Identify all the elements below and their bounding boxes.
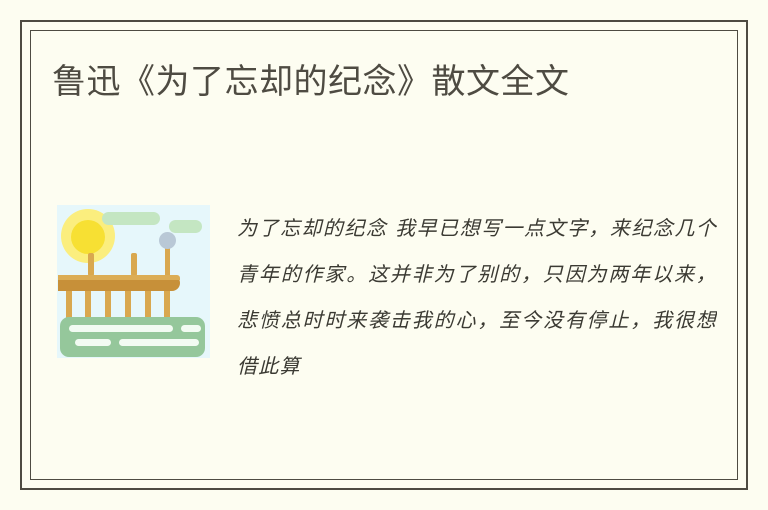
wave-line	[119, 339, 199, 346]
page-title: 鲁迅《为了忘却的纪念》散文全文	[52, 52, 652, 107]
sun-icon	[71, 220, 105, 254]
water-surface	[60, 317, 205, 357]
lamp-head-icon	[159, 232, 176, 249]
article-body: 为了忘却的纪念 我早已想写一点文字，来纪念几个青年的作家。这并非为了别的，只因为…	[57, 205, 717, 389]
cloud-icon	[102, 212, 160, 225]
pier-post	[88, 253, 94, 276]
wave-line	[69, 325, 173, 332]
pier-deck-highlight	[58, 275, 180, 280]
article-excerpt: 为了忘却的纪念 我早已想写一点文字，来纪念几个青年的作家。这并非为了别的，只因为…	[210, 205, 717, 389]
wave-line	[181, 325, 201, 332]
pier-post	[131, 253, 137, 276]
page-root: 鲁迅《为了忘却的纪念》散文全文	[0, 0, 768, 510]
article-content: 鲁迅《为了忘却的纪念》散文全文	[52, 52, 716, 458]
wave-line	[75, 339, 111, 346]
cloud-icon	[169, 220, 202, 233]
pier-sunset-illustration	[57, 205, 210, 358]
